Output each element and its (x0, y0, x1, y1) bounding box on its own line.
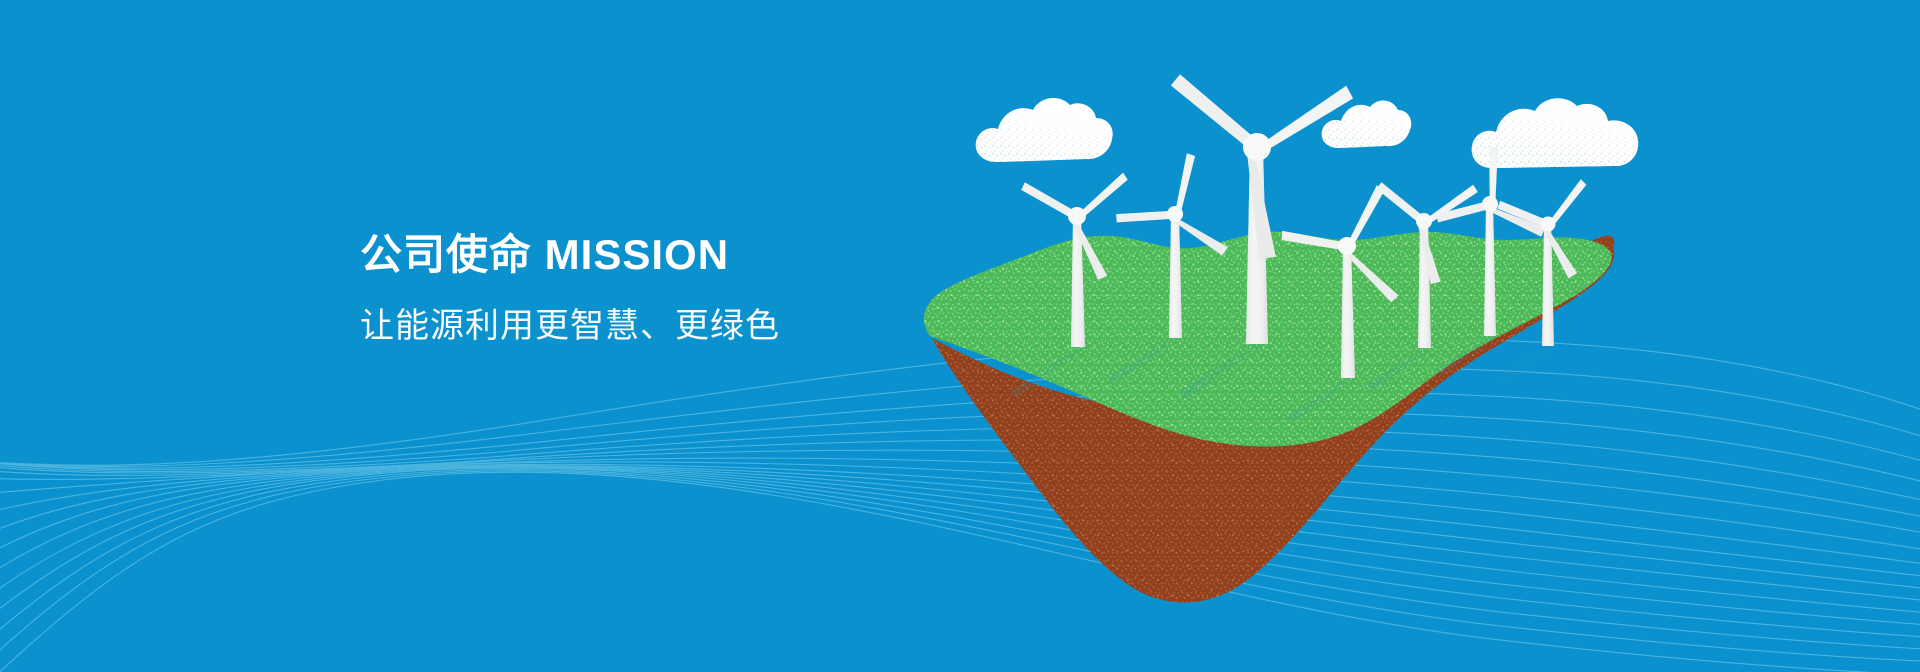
page-subtitle: 让能源利用更智慧、更绿色 (360, 304, 780, 348)
island-scene-illustration (0, 0, 1920, 672)
mission-banner: 公司使命 MISSION 让能源利用更智慧、更绿色 (0, 0, 1920, 672)
page-title: 公司使命 MISSION (360, 228, 780, 282)
mission-text-block: 公司使命 MISSION 让能源利用更智慧、更绿色 (360, 228, 780, 348)
cloud-left (976, 98, 1113, 162)
